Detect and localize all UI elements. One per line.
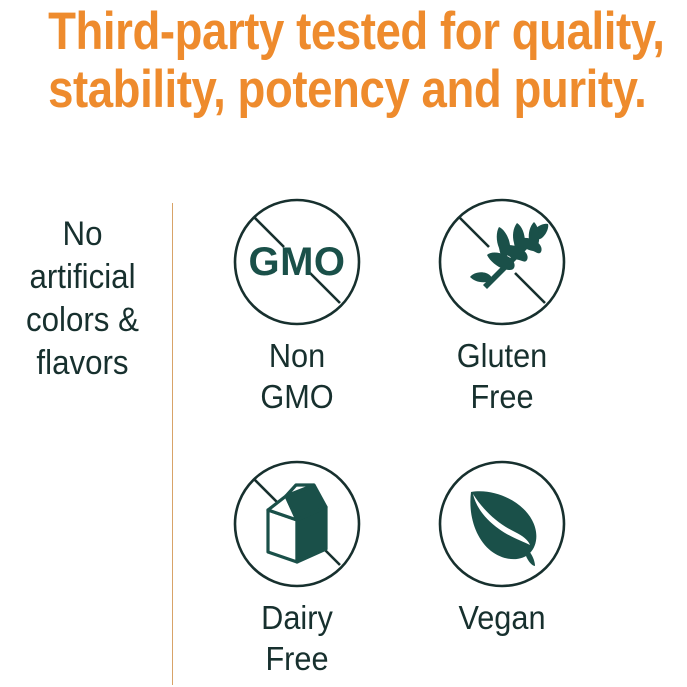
badge-vegan-label-line-1: Vegan [409,597,595,638]
badge-vegan-label: Vegan [409,597,595,638]
vertical-divider [172,203,173,685]
leaf-icon [436,458,568,590]
no-gmo-icon: GMO [231,196,363,328]
certification-badge-grid: GMO Non GMO [180,196,687,687]
badge-dairy-free: Dairy Free [197,458,397,679]
badge-non-gmo: GMO Non GMO [197,196,397,417]
no-wheat-icon [436,196,568,328]
badge-gluten-free-label: Gluten Free [409,335,595,417]
milk-carton-shape [268,485,326,562]
badge-gluten-free: Gluten Free [402,196,602,417]
badge-non-gmo-label-line-2: GMO [204,376,390,417]
no-milk-carton-icon [231,458,363,590]
badge-non-gmo-label-line-1: Non [204,335,390,376]
headline-line-2: stability, potency and purity. [48,61,639,119]
leaf-shape [470,491,536,566]
badge-dairy-free-label-line-1: Dairy [204,597,390,638]
badge-gluten-free-label-line-2: Free [409,376,595,417]
no-artificial-line-1: No [7,213,159,256]
gmo-inner-label: GMO [248,240,345,284]
badge-dairy-free-label: Dairy Free [204,597,390,679]
badge-vegan: Vegan [402,458,602,638]
no-artificial-colors-text: No artificial colors & flavors [7,213,159,385]
wheat-stalk-shape [470,222,548,289]
no-artificial-line-4: flavors [7,342,159,385]
badge-non-gmo-label: Non GMO [204,335,390,417]
badge-gluten-free-label-line-1: Gluten [409,335,595,376]
headline-line-1: Third-party tested for quality, [48,3,639,61]
no-artificial-line-2: artificial [7,256,159,299]
badge-dairy-free-label-line-2: Free [204,638,390,679]
headline-block: Third-party tested for quality, stabilit… [0,0,687,119]
no-artificial-line-3: colors & [7,299,159,342]
